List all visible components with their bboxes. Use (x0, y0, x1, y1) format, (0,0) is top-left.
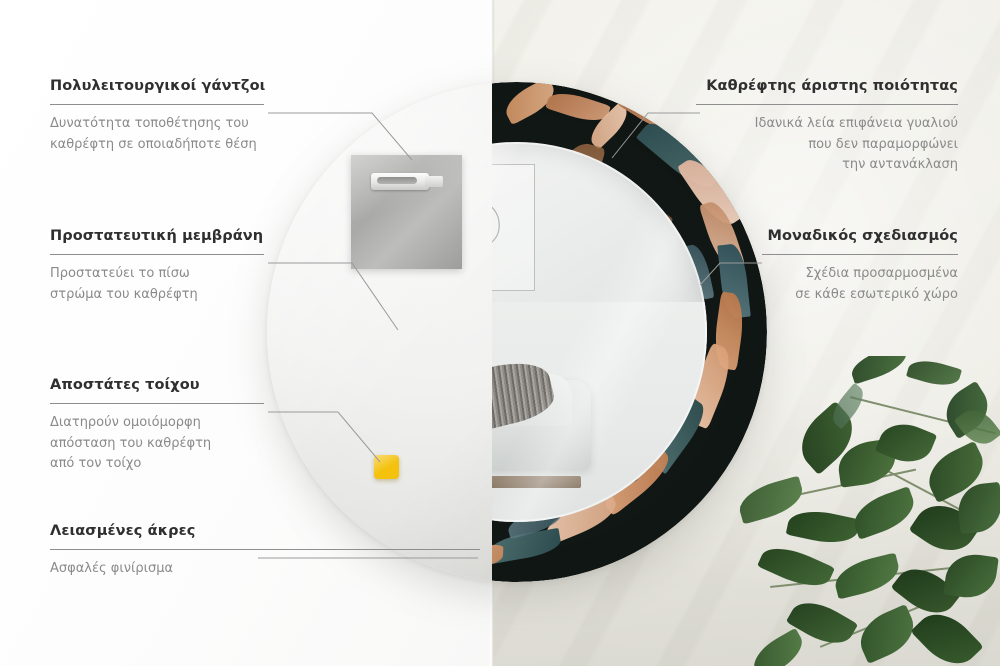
infographic-canvas: Πολυλειτουργικοί γάντζοι Δυνατότητα τοπο… (0, 0, 1000, 666)
callout-top-quality-mirror: Καθρέφτης άριστης ποιότητας Ιδανικά λεία… (696, 78, 958, 175)
yellow-wall-spacer (374, 455, 399, 479)
callout-title: Πολυλειτουργικοί γάντζοι (50, 78, 264, 95)
callout-rule (50, 549, 480, 550)
callout-rule (696, 104, 958, 105)
callout-title: Μοναδικός σχεδιασμός (762, 228, 958, 245)
callout-description: Ασφαλές φινίρισμα (50, 559, 480, 579)
callout-multifunctional-hooks: Πολυλειτουργικοί γάντζοι Δυνατότητα τοπο… (50, 78, 264, 155)
callout-rule (50, 254, 264, 255)
callout-description: Διατηρούν ομοιόμορφη απόσταση του καθρέφ… (50, 413, 264, 473)
callout-description: Ιδανικά λεία επιφάνεια γυαλιού που δεν π… (696, 114, 958, 174)
callout-description: Σχέδια προσαρμοσμένα σε κάθε εσωτερικό χ… (762, 264, 958, 304)
decorative-foliage (730, 356, 1000, 666)
callout-unique-design: Μοναδικός σχεδιασμός Σχέδια προσαρμοσμέν… (762, 228, 958, 305)
callout-title: Αποστάτες τοίχου (50, 377, 264, 394)
callout-title: Λειασμένες άκρες (50, 523, 480, 540)
callout-rule (50, 403, 264, 404)
callout-description: Δυνατότητα τοποθέτησης του καθρέφτη σε ο… (50, 114, 264, 154)
round-mirror (267, 82, 767, 582)
callout-rule (762, 254, 958, 255)
hook-tab (425, 176, 443, 187)
callout-description: Προστατεύει το πίσω στρώμα του καθρέφτη (50, 264, 264, 304)
callout-wall-spacers: Αποστάτες τοίχου Διατηρούν ομοιόμορφη απ… (50, 377, 264, 474)
callout-rule (50, 104, 264, 105)
mounting-plate-with-hook (351, 155, 462, 269)
callout-title: Προστατευτική μεμβράνη (50, 228, 264, 245)
hook-slot (377, 177, 417, 184)
callout-smoothed-edges: Λειασμένες άκρες Ασφαλές φινίρισμα (50, 523, 480, 580)
callout-protective-membrane: Προστατευτική μεμβράνη Προστατεύει το πί… (50, 228, 264, 305)
callout-title: Καθρέφτης άριστης ποιότητας (696, 78, 958, 95)
